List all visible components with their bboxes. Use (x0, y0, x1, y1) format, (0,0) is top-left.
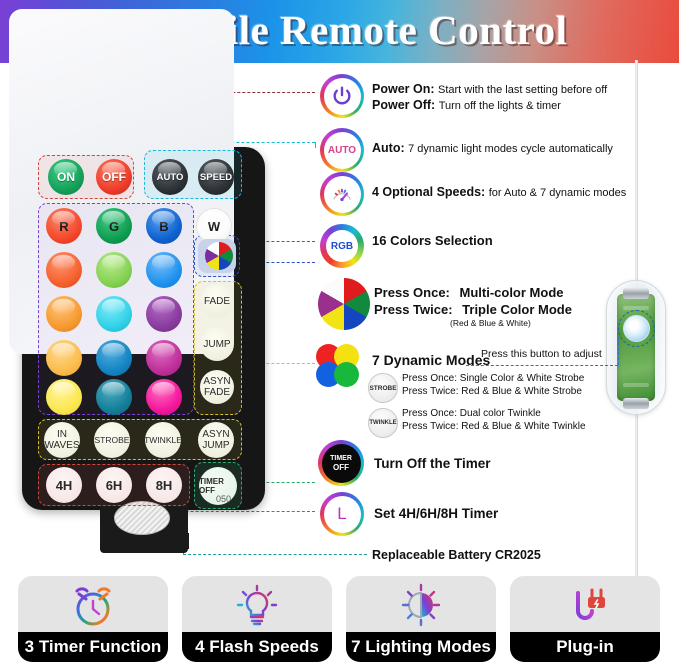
remote-button-in-waves-label: IN WAVES (44, 429, 80, 451)
multicolor-note: (Red & Blue & White) (450, 318, 531, 328)
twinkle-sub-icon: TWINKLE (368, 408, 398, 438)
timer-off-icon: TIMER OFF (322, 444, 361, 483)
speedometer-icon (324, 176, 361, 213)
remote-color-button[interactable]: B (146, 208, 182, 244)
remote-button-8h[interactable]: 8H (146, 467, 182, 503)
remote-color-label: B (159, 219, 168, 234)
battery-label: Replaceable Battery CR2025 (372, 548, 541, 562)
remote-color-button[interactable] (146, 340, 182, 376)
remote-button-twinkle[interactable]: TWINKLE (145, 422, 181, 458)
power-on-label: Power On: (372, 82, 435, 96)
remote-button-off[interactable]: OFF (96, 159, 132, 195)
remote-button-speed[interactable]: SPEED (198, 159, 234, 195)
multicolor-pie-icon (318, 278, 370, 330)
twinkle-line2: Press Twice: Red & Blue & White Twinkle (402, 421, 586, 432)
auto-icon: AUTO (324, 132, 361, 169)
remote-button-in-waves[interactable]: IN WAVES (44, 422, 80, 458)
led-highlight-ring (618, 310, 655, 347)
remote-model-number: 050 (216, 494, 231, 504)
power-off-text: Turn off the lights & timer (439, 100, 561, 112)
auto-text: 7 dynamic light modes cycle automaticall… (408, 143, 613, 155)
feature-card-plugin[interactable]: Plug-in (510, 576, 660, 662)
remote-button-8h-label: 8H (156, 478, 173, 493)
remote-button-6h-label: 6H (106, 478, 123, 493)
timer-off-icon-line1: TIMER (330, 455, 352, 463)
remote-button-fade[interactable]: FADE (200, 284, 234, 318)
timer-off-label: Turn Off the Timer (374, 456, 491, 471)
timer-set-icon: L (324, 496, 361, 533)
remote-button-multicolor[interactable] (198, 239, 236, 273)
remote-color-label: G (109, 219, 119, 234)
remote-color-button[interactable] (146, 379, 182, 415)
rgb-icon-text: RGB (331, 241, 353, 252)
remote-button-4h[interactable]: 4H (46, 467, 82, 503)
auto-row: Auto: 7 dynamic light modes cycle automa… (372, 141, 613, 155)
remote-color-button[interactable] (96, 379, 132, 415)
strobe-line1: Press Once: Single Color & White Strobe (402, 373, 584, 384)
connector-adjust-vertical (618, 338, 619, 365)
capsule-bottom-cap (623, 398, 649, 409)
remote-button-fade-label: FADE (204, 296, 230, 307)
remote-color-button[interactable] (46, 340, 82, 376)
press-twice-row: Press Twice: Triple Color Mode (374, 302, 572, 317)
remote-button-asyn-jump-label: ASYN JUMP (198, 429, 234, 451)
timer-off-icon-ring: TIMER OFF (318, 440, 364, 486)
alarm-clock-icon (18, 580, 168, 632)
feature-card-timer-label: 3 Timer Function (18, 632, 168, 662)
remote-color-button[interactable]: G (96, 208, 132, 244)
press-once-row: Press Once: Multi-color Mode (374, 285, 564, 300)
timer-off-icon-line2: OFF (333, 463, 349, 472)
dynamic-modes-icon (316, 344, 364, 388)
remote-button-on[interactable]: ON (48, 159, 84, 195)
remote-color-button[interactable] (96, 252, 132, 288)
light-bulb-icon (182, 580, 332, 632)
remote-button-jump-label: JUMP (203, 339, 230, 350)
speed-row: 4 Optional Speeds: for Auto & 7 dynamic … (372, 185, 626, 199)
press-twice-label: Press Twice: (374, 302, 453, 317)
power-on-row: Power On: Start with the last setting be… (372, 82, 607, 96)
twinkle-line1: Press Once: Dual color Twinkle (402, 408, 541, 419)
capsule-top-cap (623, 288, 649, 299)
remote-color-button[interactable] (46, 252, 82, 288)
remote-button-timer-off-label: TIMER OFF (199, 477, 237, 495)
remote-button-auto-label: AUTO (157, 172, 184, 183)
remote-button-asyn-fade-label: ASYN FADE (200, 376, 234, 398)
timer-set-label: Set 4H/6H/8H Timer (374, 506, 498, 521)
remote-button-auto[interactable]: AUTO (152, 159, 188, 195)
power-icon (324, 78, 361, 115)
timer-set-icon-ring: L (320, 492, 364, 536)
sun-brightness-icon (346, 580, 496, 632)
remote-button-on-label: ON (57, 170, 75, 184)
press-once-text: Multi-color Mode (460, 285, 564, 300)
remote-button-speed-label: SPEED (200, 172, 232, 183)
connector-battery-horizontal (183, 554, 367, 555)
speed-icon-ring (320, 172, 364, 216)
strobe-sub-icon: STROBE (368, 373, 398, 403)
dynamic-modes-title: 7 Dynamic Modes (372, 352, 490, 368)
power-off-row: Power Off: Turn off the lights & timer (372, 98, 561, 112)
press-twice-text: Triple Color Mode (462, 302, 572, 317)
auto-label: Auto: (372, 141, 405, 155)
remote-color-button[interactable] (96, 296, 132, 332)
remote-color-label: W (208, 219, 220, 234)
twinkle-sub-icon-text: TWINKLE (369, 420, 396, 426)
feature-card-modes-label: 7 Lighting Modes (346, 632, 496, 662)
remote-button-strobe-label: STROBE (95, 435, 130, 446)
remote-color-button[interactable]: R (46, 208, 82, 244)
dynamic-adjust-note: Press this button to adjust (481, 348, 602, 360)
remote-color-button[interactable] (146, 296, 182, 332)
rgb-label: 16 Colors Selection (372, 233, 493, 248)
battery-tray-tab (172, 533, 189, 549)
rgb-wheel-icon: RGB (320, 224, 364, 268)
feature-card-plugin-label: Plug-in (510, 632, 660, 662)
remote-color-button[interactable] (146, 252, 182, 288)
auto-icon-text: AUTO (328, 145, 356, 156)
feature-card-modes[interactable]: 7 Lighting Modes (346, 576, 496, 662)
remote-button-off-label: OFF (102, 170, 126, 184)
remote-color-button[interactable] (46, 296, 82, 332)
remote-color-label: R (59, 219, 68, 234)
remote-button-strobe[interactable]: STROBE (94, 422, 130, 458)
remote-color-button[interactable] (96, 340, 132, 376)
timer-set-icon-text: L (337, 504, 346, 524)
remote-button-asyn-jump[interactable]: ASYN JUMP (198, 422, 234, 458)
speed-label: 4 Optional Speeds: (372, 185, 485, 199)
speed-text: for Auto & 7 dynamic modes (489, 187, 627, 199)
strobe-sub-icon-text: STROBE (369, 385, 396, 392)
remote-button-4h-label: 4H (56, 478, 73, 493)
color-wheel-icon (205, 242, 233, 270)
remote-button-6h[interactable]: 6H (96, 467, 132, 503)
remote-button-jump[interactable]: JUMP (200, 327, 234, 361)
power-plug-icon (510, 580, 660, 632)
feature-card-speeds-label: 4 Flash Speeds (182, 632, 332, 662)
strobe-line2: Press Twice: Red & Blue & White Strobe (402, 386, 582, 397)
feature-card-timer[interactable]: 3 Timer Function (18, 576, 168, 662)
connector-auto-down (315, 142, 316, 148)
power-icon-ring (320, 74, 364, 118)
power-off-label: Power Off: (372, 98, 435, 112)
feature-card-speeds[interactable]: 4 Flash Speeds (182, 576, 332, 662)
remote-button-asyn-fade[interactable]: ASYN FADE (200, 370, 234, 404)
coin-cell-battery (114, 501, 170, 535)
press-once-label: Press Once: (374, 285, 450, 300)
auto-icon-ring: AUTO (320, 128, 364, 172)
remote-color-button[interactable] (46, 379, 82, 415)
power-on-text: Start with the last setting before off (438, 84, 607, 96)
remote-button-twinkle-label: TWINKLE (144, 435, 182, 446)
